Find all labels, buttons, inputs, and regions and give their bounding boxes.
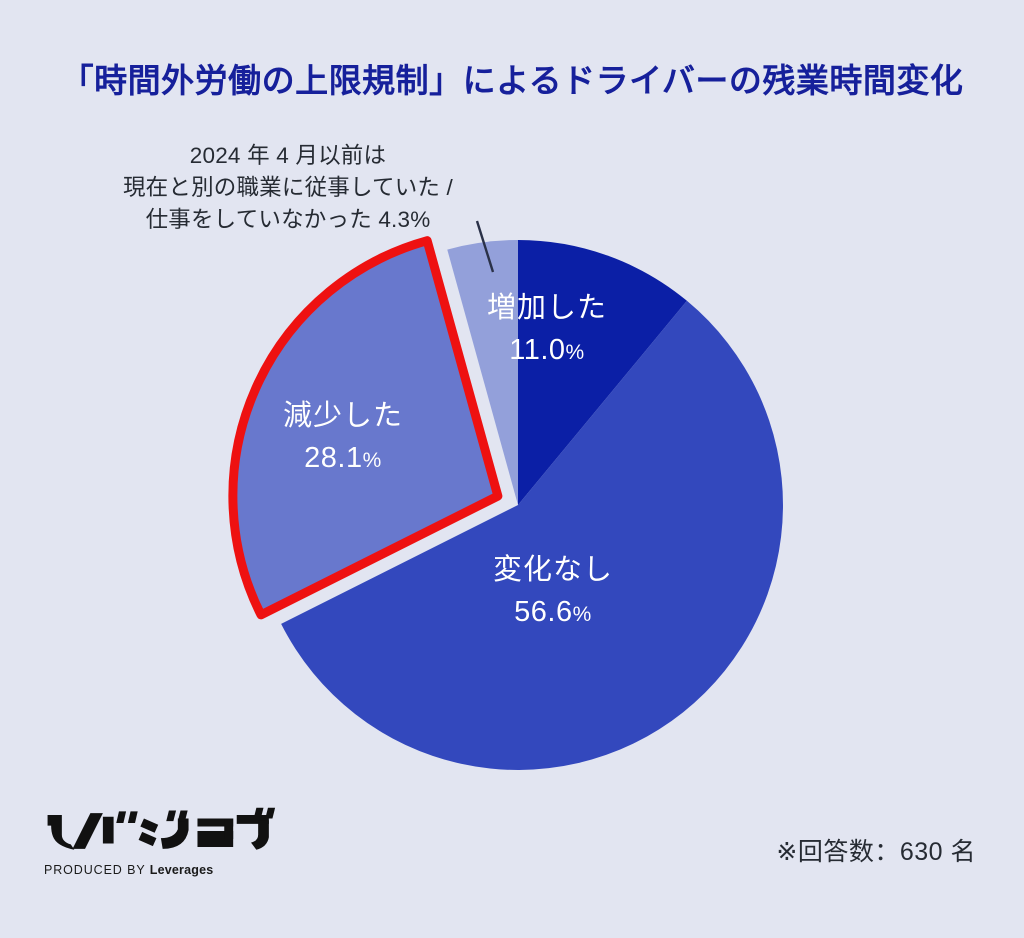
slice-label-decrease-value: 28.1% (238, 440, 448, 477)
slice-label-decrease: 減少した 28.1% (238, 398, 448, 477)
infographic-canvas: 「時間外労働の上限規制」によるドライバーの残業時間変化 2024 年 4 月以前… (0, 0, 1024, 938)
slice-label-increase-number: 11.0 (509, 334, 565, 366)
slice-label-no-change-name: 変化なし (448, 552, 658, 589)
page-title: 「時間外労働の上限規制」によるドライバーの残業時間変化 (0, 54, 1024, 102)
slice-label-no-change-value: 56.6% (448, 594, 658, 631)
logo-subtitle-brand: Leverages (150, 863, 214, 877)
pie-slice-no-change[interactable] (281, 301, 783, 770)
logo-subtitle-prefix: PRODUCED BY (44, 863, 150, 877)
callout-line-2: 現在と別の職業に従事していた / (78, 172, 498, 204)
slice-label-increase: 増加した 11.0% (442, 290, 652, 369)
brand-logo: PRODUCED BY Leverages (44, 806, 304, 877)
slice-label-increase-unit: % (566, 341, 585, 364)
slice-label-no-change-unit: % (573, 603, 592, 626)
slice-label-no-change: 変化なし 56.6% (448, 552, 658, 631)
pie-slice-increase[interactable] (518, 240, 687, 505)
slice-label-increase-value: 11.0% (442, 332, 652, 369)
callout-line-3: 仕事をしていなかった 4.3% (78, 204, 498, 236)
slice-label-decrease-name: 減少した (238, 398, 448, 435)
slice-label-decrease-number: 28.1 (304, 442, 362, 474)
slice-label-no-change-number: 56.6 (514, 596, 572, 628)
slice-label-decrease-unit: % (363, 449, 382, 472)
respondent-count-note: ※回答数：630 名 (776, 832, 976, 868)
callout-line-1: 2024 年 4 月以前は (78, 140, 498, 172)
slice-label-increase-name: 増加した (442, 290, 652, 327)
logo-subtitle: PRODUCED BY Leverages (44, 863, 304, 877)
slice-callout-annotation: 2024 年 4 月以前は 現在と別の職業に従事していた / 仕事をしていなかっ… (78, 140, 498, 236)
pie-slice-other-occupation[interactable] (447, 240, 518, 505)
levajob-logo-icon (44, 806, 276, 856)
